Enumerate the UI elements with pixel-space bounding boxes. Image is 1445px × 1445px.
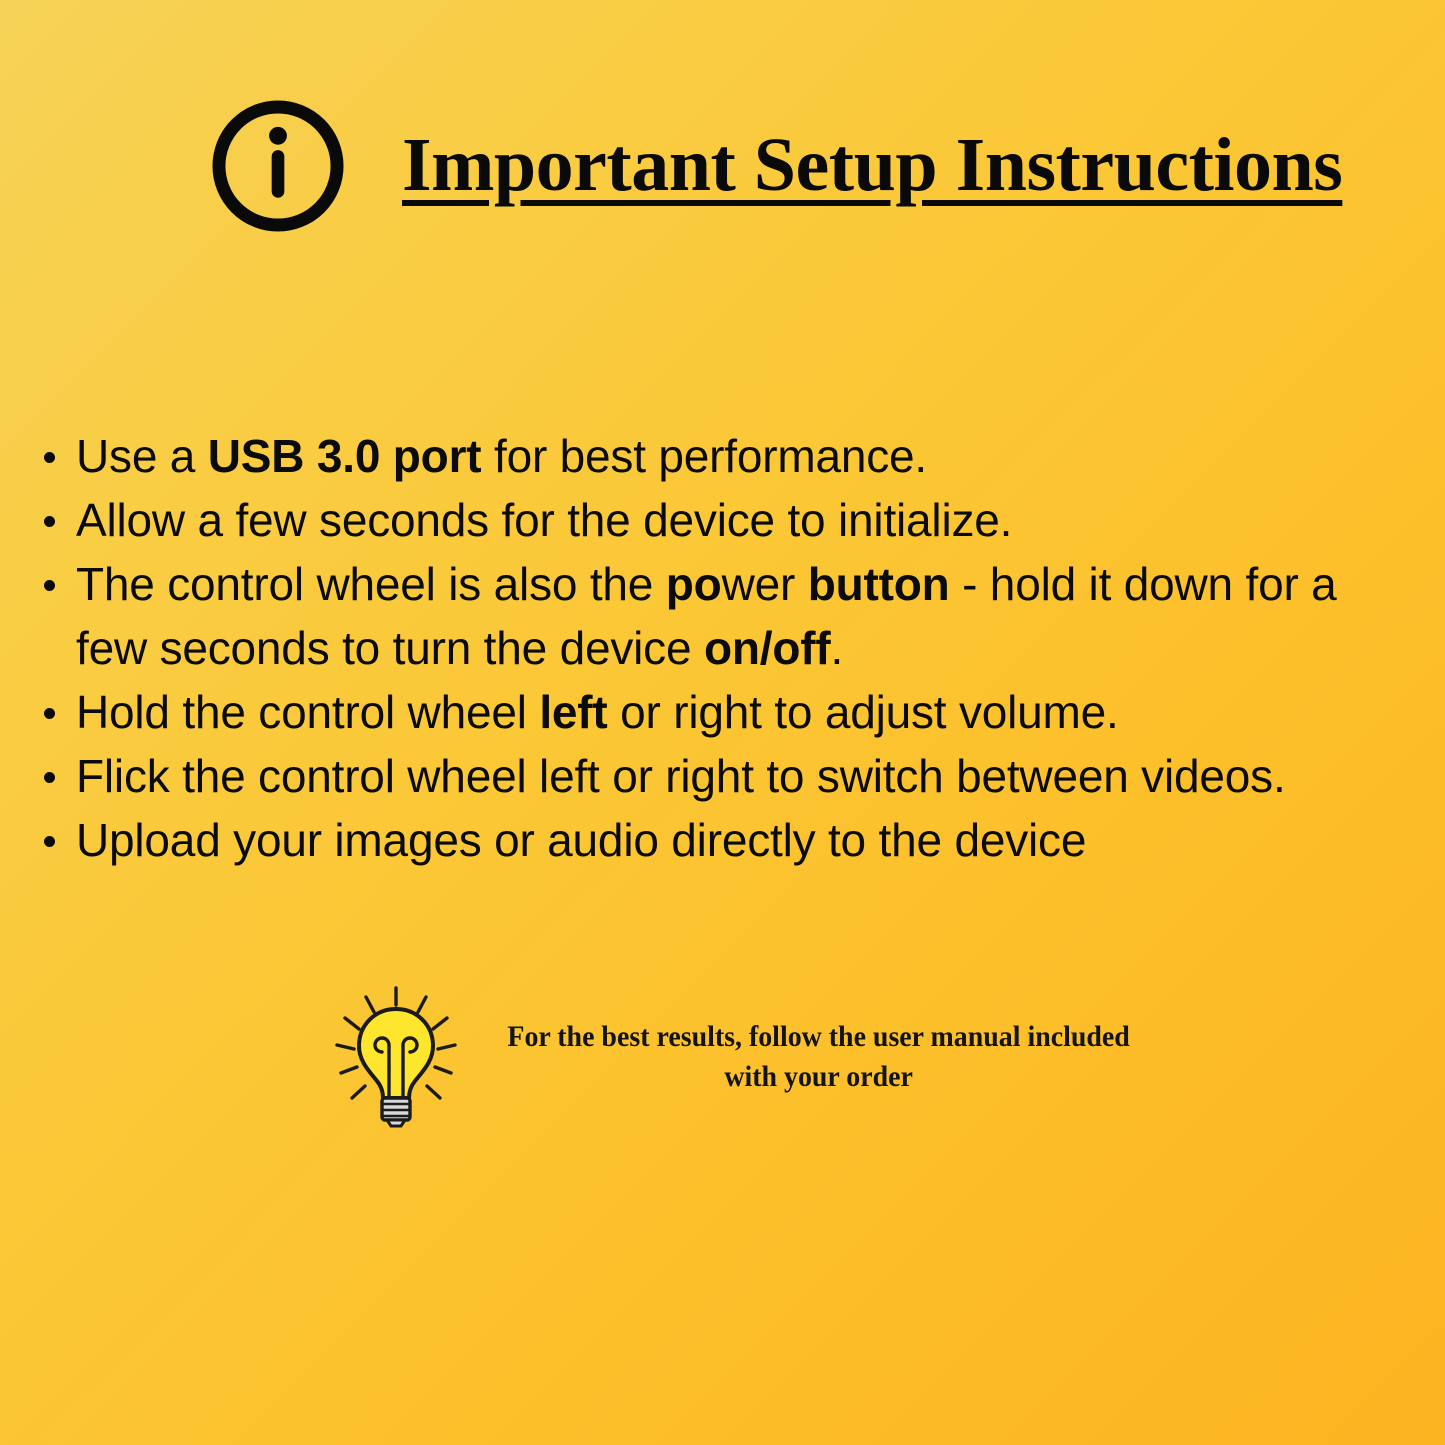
text-run: left	[539, 686, 607, 738]
instruction-item-upload-media: Upload your images or audio directly to …	[36, 808, 1396, 872]
instruction-text: The control wheel is also the power butt…	[76, 558, 1337, 674]
info-circle-icon	[206, 94, 350, 238]
lightbulb-icon	[332, 985, 460, 1129]
text-run: The control wheel is also the	[76, 558, 666, 610]
text-run: Flick the control wheel left or right to…	[76, 750, 1286, 802]
header: Important Setup Instructions	[0, 86, 1445, 246]
text-run: Upload your images or audio directly to …	[76, 814, 1086, 866]
text-run: Hold the control wheel	[76, 686, 539, 738]
text-run: or right to adjust volume.	[608, 686, 1119, 738]
instruction-text: Allow a few seconds for the device to in…	[76, 494, 1012, 546]
text-run: on/off	[704, 622, 831, 674]
instruction-item-usb-port: Use a USB 3.0 port for best performance.	[36, 424, 1396, 488]
instruction-item-power-button: The control wheel is also the power butt…	[36, 552, 1396, 680]
instruction-text: Hold the control wheel left or right to …	[76, 686, 1119, 738]
text-run: wer	[722, 558, 808, 610]
text-run: Allow a few seconds for the device to in…	[76, 494, 1012, 546]
text-run: button	[808, 558, 950, 610]
instruction-text: Upload your images or audio directly to …	[76, 814, 1086, 866]
bullet-marker	[44, 516, 55, 527]
bullet-marker	[44, 452, 55, 463]
instruction-text: Flick the control wheel left or right to…	[76, 750, 1286, 802]
text-run: USB 3.0 port	[208, 430, 482, 482]
footer-note: For the best results, follow the user ma…	[0, 985, 1445, 1129]
footer-note-line-2: with your order	[507, 1057, 1129, 1097]
instruction-text: Use a USB 3.0 port for best performance.	[76, 430, 927, 482]
bullet-marker	[44, 772, 55, 783]
footer-note-line-1: For the best results, follow the user ma…	[507, 1017, 1129, 1057]
instruction-item-initialize-wait: Allow a few seconds for the device to in…	[36, 488, 1396, 552]
text-run: po	[666, 558, 722, 610]
footer-note-text: For the best results, follow the user ma…	[507, 1017, 1129, 1097]
page-title: Important Setup Instructions	[402, 126, 1342, 206]
instruction-item-volume-adjust: Hold the control wheel left or right to …	[36, 680, 1396, 744]
instruction-item-switch-videos: Flick the control wheel left or right to…	[36, 744, 1396, 808]
bullet-marker	[44, 836, 55, 847]
instructions-list: Use a USB 3.0 port for best performance.…	[36, 424, 1396, 872]
bullet-marker	[44, 708, 55, 719]
setup-instructions-poster: Important Setup Instructions Use a USB 3…	[0, 0, 1445, 1445]
text-run: for best performance.	[481, 430, 927, 482]
text-run: Use a	[76, 430, 208, 482]
text-run: .	[830, 622, 843, 674]
bullet-marker	[44, 580, 55, 591]
